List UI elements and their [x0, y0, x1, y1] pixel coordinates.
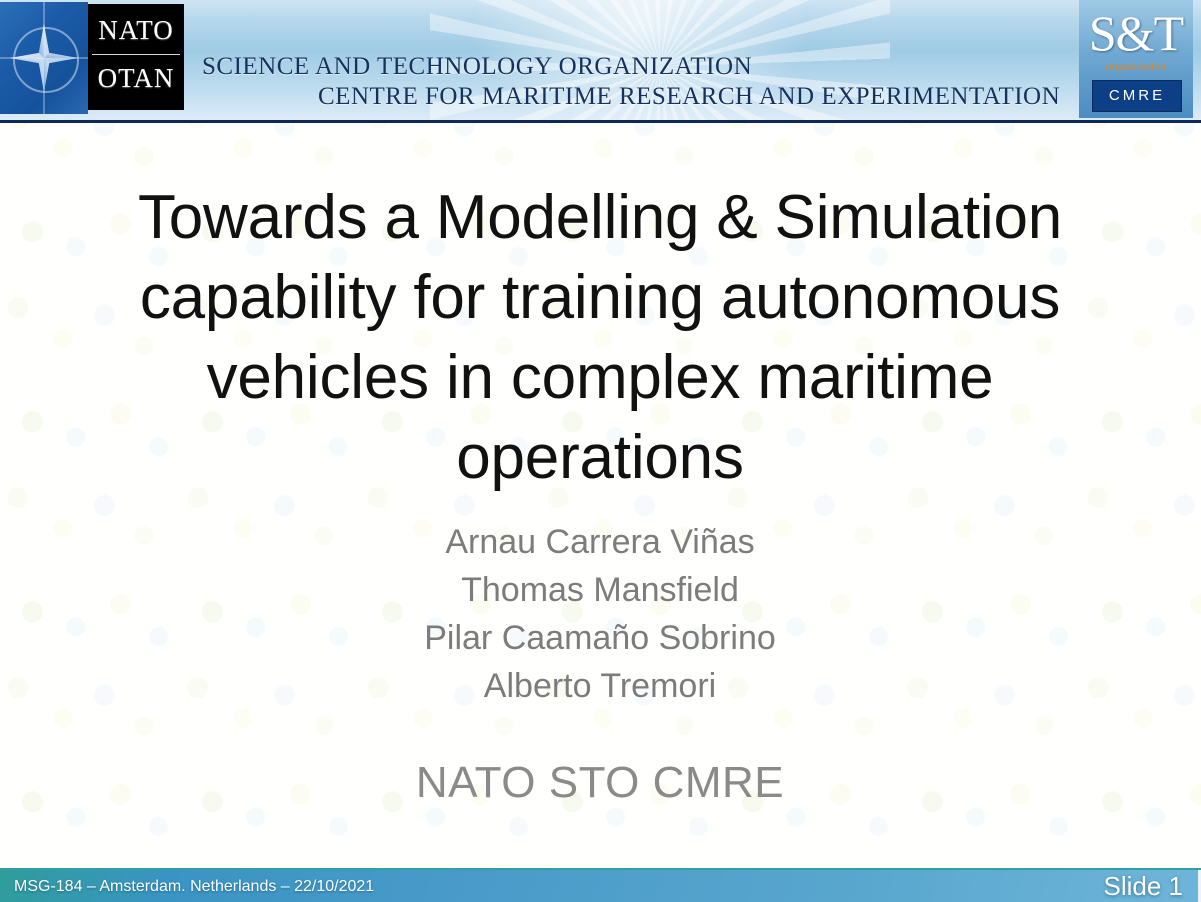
- cmre-badge: CMRE: [1092, 80, 1182, 112]
- sto-line: SCIENCE AND TECHNOLOGY ORGANIZATION: [200, 52, 1080, 82]
- nato-otan-wordmark: NATO OTAN: [88, 4, 184, 110]
- cmre-line: CENTRE FOR MARITIME RESEARCH AND EXPERIM…: [200, 82, 1080, 112]
- slide-footer-bar: MSG-184 – Amsterdam. Netherlands – 22/10…: [0, 868, 1201, 902]
- affiliation: NATO STO CMRE: [70, 755, 1130, 811]
- st-monogram: S&T: [1085, 2, 1187, 68]
- page-title: Towards a Modelling & Simulation capabil…: [70, 178, 1130, 498]
- author-name: Alberto Tremori: [70, 662, 1130, 710]
- title-line-2: capability for training autonomous: [70, 258, 1130, 338]
- footer-event-info: MSG-184 – Amsterdam. Netherlands – 22/10…: [14, 870, 374, 902]
- science-technology-logo: S&T organization CMRE: [1079, 0, 1193, 118]
- otan-label: OTAN: [88, 56, 184, 100]
- slide-content-area: Towards a Modelling & Simulation capabil…: [0, 123, 1201, 865]
- nato-compass-star-icon: [0, 2, 88, 114]
- presentation-slide: NATO OTAN SCIENCE AND TECHNOLOGY ORGANIZ…: [0, 0, 1201, 902]
- author-list: Arnau Carrera Viñas Thomas Mansfield Pil…: [70, 518, 1130, 710]
- slide-header-banner: NATO OTAN SCIENCE AND TECHNOLOGY ORGANIZ…: [0, 0, 1201, 123]
- title-line-4: operations: [70, 418, 1130, 498]
- author-name: Pilar Caamaño Sobrino: [70, 614, 1130, 662]
- nato-divider: [92, 54, 180, 55]
- title-line-3: vehicles in complex maritime: [70, 338, 1130, 418]
- author-name: Arnau Carrera Viñas: [70, 518, 1130, 566]
- footer-slide-number: Slide 1: [1104, 870, 1184, 902]
- st-subtitle: organization: [1079, 62, 1193, 73]
- nato-label: NATO: [88, 4, 184, 52]
- compass-star-shape: [7, 21, 81, 95]
- author-name: Thomas Mansfield: [70, 566, 1130, 614]
- affiliation-label: NATO STO CMRE: [70, 755, 1130, 811]
- title-line-1: Towards a Modelling & Simulation: [70, 178, 1130, 258]
- header-organization-titles: SCIENCE AND TECHNOLOGY ORGANIZATION CENT…: [200, 52, 1080, 112]
